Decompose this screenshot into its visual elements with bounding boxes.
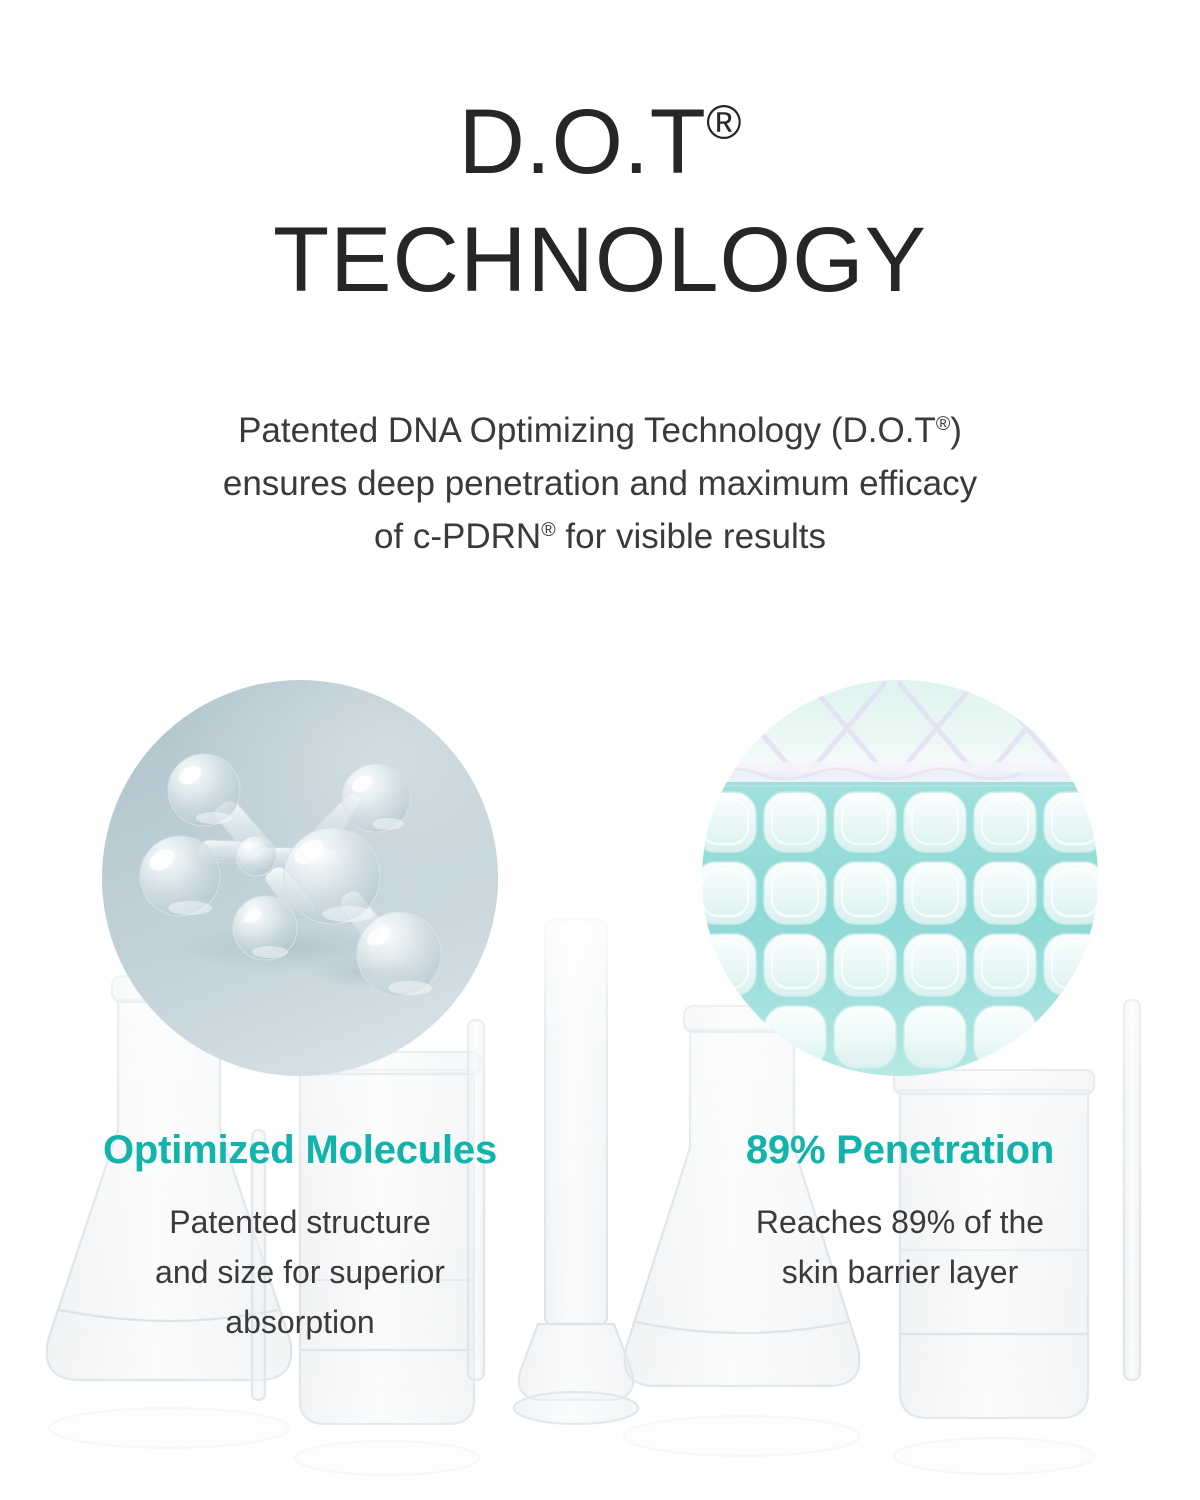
registered-mark-icon: ® bbox=[936, 413, 950, 435]
feature-column-optimized-molecules: Optimized Molecules Patented structure a… bbox=[0, 680, 600, 1348]
dot-technology-infographic: D.O.T® TECHNOLOGY Patented DNA Optimizin… bbox=[0, 0, 1200, 1500]
feature-body-line: skin barrier layer bbox=[756, 1248, 1044, 1298]
feature-heading: 89% Penetration bbox=[746, 1128, 1054, 1172]
page-title: D.O.T® TECHNOLOGY bbox=[0, 96, 1200, 306]
feature-body-line: and size for superior bbox=[155, 1248, 445, 1298]
subtitle-line-2: ensures deep penetration and maximum eff… bbox=[0, 457, 1200, 510]
registered-mark-icon: ® bbox=[541, 519, 555, 541]
skin-barrier-lattice-render-image bbox=[702, 680, 1098, 1076]
subtitle-line-3-before: of c-PDRN bbox=[374, 517, 541, 556]
feature-columns: Optimized Molecules Patented structure a… bbox=[0, 680, 1200, 1348]
title-dot-text: D.O.T bbox=[458, 91, 706, 193]
subtitle-line-1-before: Patented DNA Optimizing Technology (D.O.… bbox=[238, 411, 936, 450]
molecule-3d-render-image bbox=[102, 680, 498, 1076]
title-line-technology: TECHNOLOGY bbox=[0, 214, 1200, 306]
feature-body-line: absorption bbox=[155, 1298, 445, 1348]
feature-column-penetration: 89% Penetration Reaches 89% of the skin … bbox=[600, 680, 1200, 1348]
feature-heading: Optimized Molecules bbox=[103, 1128, 497, 1172]
feature-body: Reaches 89% of the skin barrier layer bbox=[756, 1198, 1044, 1298]
title-line-dot: D.O.T® bbox=[0, 96, 1200, 188]
feature-body: Patented structure and size for superior… bbox=[155, 1198, 445, 1348]
subtitle-line-3: of c-PDRN® for visible results bbox=[0, 510, 1200, 563]
subtitle-line-3-after: for visible results bbox=[556, 517, 826, 556]
subtitle-line-1: Patented DNA Optimizing Technology (D.O.… bbox=[0, 404, 1200, 457]
subtitle: Patented DNA Optimizing Technology (D.O.… bbox=[0, 404, 1200, 564]
feature-body-line: Reaches 89% of the bbox=[756, 1198, 1044, 1248]
registered-mark-icon: ® bbox=[706, 97, 741, 150]
subtitle-line-1-after: ) bbox=[950, 411, 962, 450]
feature-body-line: Patented structure bbox=[155, 1198, 445, 1248]
